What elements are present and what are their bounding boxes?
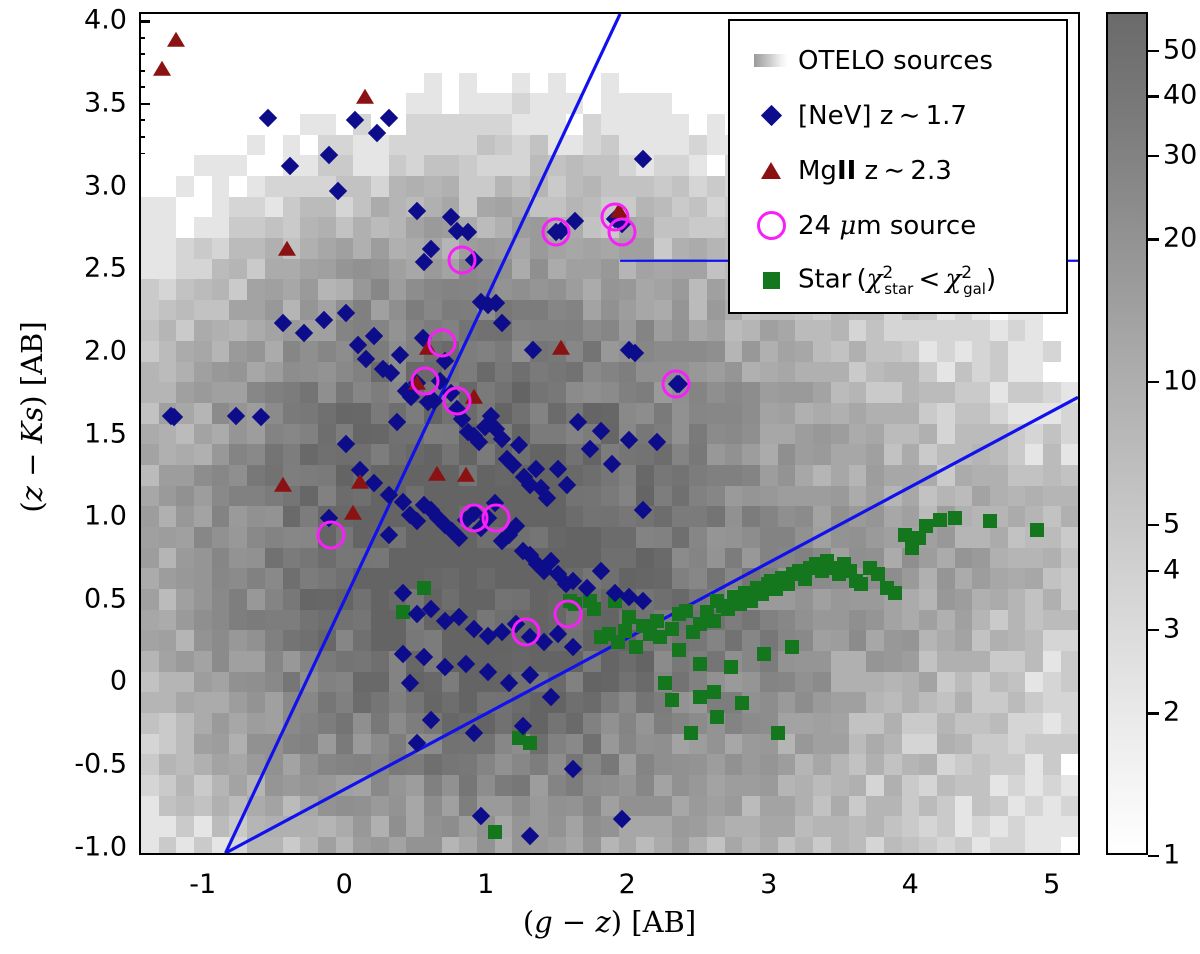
star-marker (707, 614, 721, 628)
mgii-marker (351, 474, 369, 489)
nev-marker (422, 711, 440, 729)
mgii-marker (344, 505, 362, 520)
nev-marker (563, 638, 581, 656)
nev-marker (580, 440, 598, 458)
y-tick-label: 3.5 (11, 87, 127, 118)
nev-marker (603, 454, 621, 472)
star-marker (523, 736, 537, 750)
nev-marker (227, 406, 245, 424)
nev-marker (408, 201, 426, 219)
mips24-circle-marker (554, 600, 583, 629)
mgii-marker (457, 467, 475, 482)
mgii-marker (278, 240, 296, 255)
nev-marker (563, 760, 581, 778)
nev-marker (592, 421, 610, 439)
star-marker (948, 511, 962, 525)
star-marker (919, 519, 933, 533)
nev-marker (394, 644, 412, 662)
colorbar-tick-label: 1 (1163, 840, 1180, 871)
density-colorbar (1106, 12, 1148, 855)
nev-marker (592, 562, 610, 580)
nev-marker (493, 314, 511, 332)
colorbar-tick (1148, 238, 1159, 240)
mgii-marker (274, 477, 292, 492)
nev-marker (408, 734, 426, 752)
colorbar-tick-label: 30 (1163, 139, 1197, 170)
nev-marker (295, 324, 313, 342)
nev-marker (280, 157, 298, 175)
nev-marker (457, 654, 475, 672)
mips24-circle-marker (511, 618, 540, 647)
nev-marker (558, 476, 576, 494)
star-marker (771, 726, 785, 740)
mgii-marker (356, 88, 374, 103)
star-marker (724, 660, 738, 674)
nev-marker (314, 311, 332, 329)
nev-marker (320, 145, 338, 163)
colorbar-tick-label: 50 (1163, 34, 1197, 65)
magenta-circle-icon (744, 211, 798, 240)
star-marker (933, 513, 947, 527)
mips24-circle-marker (428, 328, 457, 357)
nev-marker (613, 810, 631, 828)
mgii-marker (552, 340, 570, 355)
legend-label-nev: [NeV] z ∼ 1.7 (798, 101, 967, 131)
legend-label-mgii: MgII z ∼ 2.3 (798, 156, 952, 186)
nev-marker (391, 345, 409, 363)
y-tick-label: 4.0 (11, 5, 127, 36)
nev-marker (379, 525, 397, 543)
y-axis-title: (z − Ks) [AB] (15, 207, 49, 627)
star-marker (757, 647, 771, 661)
colorbar-tick-label: 3 (1163, 613, 1180, 644)
legend: OTELO sources [NeV] z ∼ 1.7 MgII z ∼ 2.3… (728, 19, 1068, 314)
legend-label-star: Star (χ2star < χ2gal) (798, 263, 996, 298)
colorbar-tick (1148, 570, 1159, 572)
nev-marker (401, 674, 419, 692)
nev-marker (510, 436, 528, 454)
nev-marker (337, 435, 355, 453)
star-marker (672, 643, 686, 657)
nev-marker (436, 658, 454, 676)
colorbar-tick-label: 40 (1163, 80, 1197, 111)
nev-marker (478, 663, 496, 681)
mips24-circle-marker (541, 218, 570, 247)
mips24-circle-marker (411, 366, 440, 395)
star-marker (871, 567, 885, 581)
blue-diamond-icon (744, 108, 798, 123)
dark-red-triangle-icon (744, 162, 798, 179)
colorbar-tick-label: 5 (1163, 508, 1180, 539)
star-marker (622, 610, 636, 624)
nev-marker (569, 413, 587, 431)
y-tick-label: 3.0 (11, 170, 127, 201)
nev-marker (379, 109, 397, 127)
nev-marker (471, 806, 489, 824)
star-marker (707, 685, 721, 699)
mgii-marker (167, 32, 185, 47)
star-marker (693, 690, 707, 704)
nev-marker (634, 150, 652, 168)
mgii-marker (153, 60, 171, 75)
colorbar-tick (1148, 629, 1159, 631)
x-tick-label: 0 (336, 869, 353, 900)
star-marker (693, 657, 707, 671)
nev-marker (415, 648, 433, 666)
x-tick-label: 4 (902, 869, 919, 900)
star-marker (650, 614, 664, 628)
legend-item-star: Star (χ2star < χ2gal) (744, 253, 1052, 308)
y-tick-label: -1.0 (11, 831, 127, 862)
colorbar-tick (1148, 524, 1159, 526)
star-marker (665, 693, 679, 707)
star-marker (684, 726, 698, 740)
star-marker (888, 586, 902, 600)
legend-item-mgii: MgII z ∼ 2.3 (744, 143, 1052, 198)
legend-item-mips24: 24 μm source (744, 198, 1052, 253)
star-marker (679, 604, 693, 618)
nev-marker (273, 314, 291, 332)
mips24-circle-marker (448, 246, 477, 275)
star-marker (488, 825, 502, 839)
nev-marker (357, 350, 375, 368)
x-tick-label: 2 (619, 869, 636, 900)
green-square-icon (744, 272, 798, 289)
nev-marker (549, 459, 567, 477)
colorbar-tick-label: 2 (1163, 697, 1180, 728)
nev-marker (365, 327, 383, 345)
legend-item-otelo: OTELO sources (744, 33, 1052, 88)
colorbar-tick (1148, 855, 1159, 857)
nev-marker (345, 111, 363, 129)
nev-marker (542, 687, 560, 705)
mips24-circle-marker (442, 386, 471, 415)
x-tick-label: 1 (477, 869, 494, 900)
nev-marker (394, 583, 412, 601)
legend-item-nev: [NeV] z ∼ 1.7 (744, 88, 1052, 143)
nev-marker (252, 408, 270, 426)
star-marker (583, 594, 597, 608)
star-marker (618, 624, 632, 638)
star-marker (854, 577, 868, 591)
colorbar-tick (1148, 712, 1159, 714)
star-marker (629, 640, 643, 654)
mips24-circle-marker (661, 370, 690, 399)
nev-marker (500, 674, 518, 692)
colorbar-tick (1148, 381, 1159, 383)
colorbar-tick (1148, 155, 1159, 157)
nev-marker (368, 124, 386, 142)
mgii-marker (428, 465, 446, 480)
star-marker (983, 514, 997, 528)
nev-marker (620, 431, 638, 449)
nev-marker (521, 666, 539, 684)
nev-marker (521, 826, 539, 844)
legend-label-mips24: 24 μm source (798, 211, 976, 241)
star-marker (665, 622, 679, 636)
nev-marker (634, 592, 652, 610)
nev-marker (634, 501, 652, 519)
star-marker (417, 581, 431, 595)
nev-marker (388, 413, 406, 431)
nev-marker (464, 724, 482, 742)
nev-marker (259, 109, 277, 127)
grayscale-swatch-icon (744, 54, 798, 67)
nev-marker (450, 608, 468, 626)
legend-label-otelo: OTELO sources (798, 46, 993, 76)
mips24-circle-marker (608, 218, 637, 247)
star-marker (1030, 523, 1044, 537)
nev-marker (337, 304, 355, 322)
mips24-circle-marker (482, 504, 511, 533)
star-marker (735, 696, 749, 710)
x-tick-label: 5 (1043, 869, 1060, 900)
colorbar-tick (1148, 95, 1159, 97)
mips24-circle-marker (316, 520, 345, 549)
y-tick-label: 0 (11, 666, 127, 697)
x-tick-label: 3 (760, 869, 777, 900)
x-axis-title: (g − z) [AB] (139, 905, 1080, 939)
y-tick-label: -0.5 (11, 749, 127, 780)
colorbar-tick (1148, 50, 1159, 52)
star-marker (898, 528, 912, 542)
star-marker (785, 640, 799, 654)
nev-marker (524, 340, 542, 358)
x-tick-label: -1 (189, 869, 216, 900)
colorbar-tick-label: 20 (1163, 223, 1197, 254)
colorbar-tick-label: 4 (1163, 554, 1180, 585)
nev-marker (648, 433, 666, 451)
colorbar-tick-label: 10 (1163, 365, 1197, 396)
star-marker (710, 710, 724, 724)
star-marker (658, 676, 672, 690)
color-color-diagram: -10123454.03.53.02.52.01.51.00.50-0.5-1.… (0, 0, 1200, 954)
nev-marker (328, 182, 346, 200)
